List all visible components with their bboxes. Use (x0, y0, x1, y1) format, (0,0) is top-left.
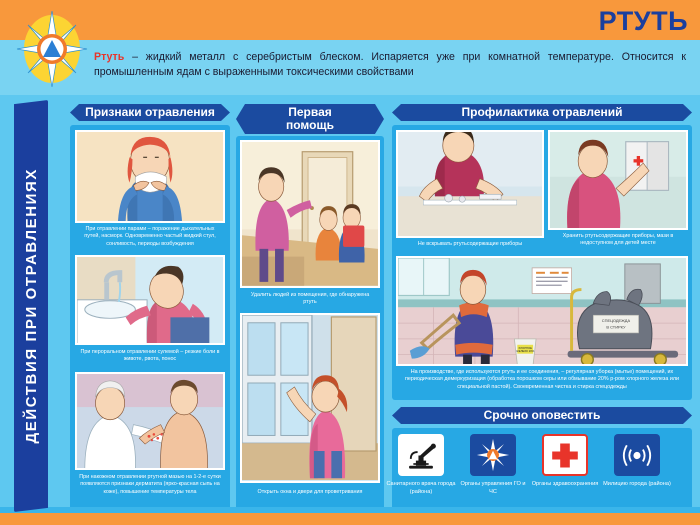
caption-signs-3: При накожном отравлении ртутной мазью на… (76, 474, 224, 504)
side-title-text-wrap: ДЕЙСТВИЯ ПРИ ОТРАВЛЕНИЯХ (14, 100, 48, 512)
alert-label-1: Санитарного врача города (района) (384, 481, 458, 496)
section-heading-first-aid: Первая помощь (236, 104, 384, 134)
caption-signs-2: При пероральном отравлении сулемой – рез… (76, 349, 224, 369)
intro-highlight: Ртуть (94, 51, 124, 63)
scene-girl-opening-window (240, 313, 380, 483)
scene-storing-medicine-cabinet (548, 130, 688, 230)
scene-evacuating-people (240, 140, 380, 288)
radio-waves-icon[interactable] (614, 434, 660, 476)
caption-first-aid-1: Удалить людей из помещения, где обнаруже… (241, 292, 379, 310)
scene-mopping-and-laundry: ХЛОРНОЕ ЖЕЛЕЗО 20% СПЕЦОДЕЖДА В СТИРКУ (396, 256, 688, 366)
svg-text:ЖЕЛЕЗО 20%: ЖЕЛЕЗО 20% (516, 349, 535, 353)
scene-not-opening-device (396, 130, 544, 238)
svg-text:СПЕЦОДЕЖДА: СПЕЦОДЕЖДА (602, 318, 631, 323)
header-orange-band (0, 0, 700, 40)
svg-text:В СТИРКУ: В СТИРКУ (606, 325, 626, 330)
emercom-star-logo (16, 10, 88, 88)
scene-doctor-examining-rash (75, 372, 225, 470)
scene-man-sneezing (75, 130, 225, 223)
page-title: РТУТЬ (599, 6, 688, 37)
caption-prevention-2: Хранить ртутьсодержащие приборы, мази в … (549, 233, 687, 251)
red-cross-icon[interactable] (542, 434, 588, 476)
section-heading-alert: Срочно оповестить (392, 407, 692, 424)
footer-orange-band (0, 513, 700, 525)
intro-paragraph: Ртуть – жидкий металл с серебристым блес… (94, 50, 686, 81)
section-heading-signs: Признаки отравления (70, 104, 230, 121)
alert-label-4: Милицию города (района) (600, 481, 674, 489)
caption-signs-1: При отравлении парами – поражение дыхате… (76, 226, 224, 252)
alert-label-3: Органы здравоохранения (528, 481, 602, 489)
caption-first-aid-2: Открыть окна и двери для проветривания (241, 489, 379, 501)
caption-prevention-3: На производстве, где используются ртуть … (397, 369, 687, 397)
side-title-text: ДЕЙСТВИЯ ПРИ ОТРАВЛЕНИЯХ (23, 168, 40, 444)
emercom-star-icon[interactable] (470, 434, 516, 476)
intro-body: – жидкий металл с серебристым блеском. И… (94, 51, 686, 78)
section-heading-prevention: Профилактика отравлений (392, 104, 692, 121)
microscope-icon[interactable] (398, 434, 444, 476)
caption-prevention-1: Не вскрывать ртутьсодержащие приборы (397, 241, 543, 251)
alert-label-2: Органы управления ГО и ЧС (456, 481, 530, 496)
first-aid-heading-line2: помощь (286, 119, 334, 132)
scene-man-over-sink (75, 255, 225, 345)
